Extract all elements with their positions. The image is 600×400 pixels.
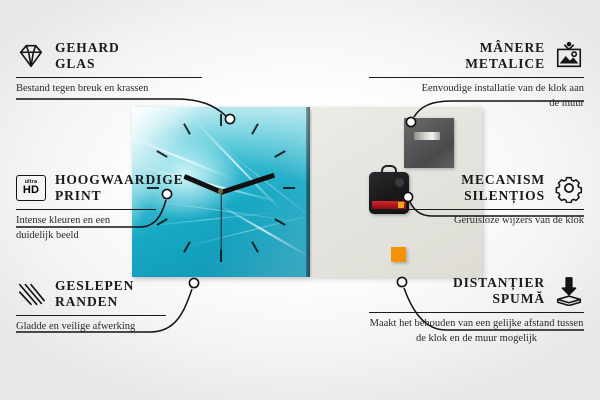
connector-node-tempered-glass <box>225 114 234 123</box>
feature-subtitle: Maakt het behouden van een gelijke afsta… <box>369 317 584 345</box>
feature-title-line: DISTANȚIER <box>453 275 545 291</box>
feature-foam-spacer: DISTANȚIER SPUMĂ Maakt het behouden van … <box>369 275 584 346</box>
feature-rule <box>16 315 166 316</box>
arrow-down-stack-icon <box>554 276 584 306</box>
feature-subtitle: Gladde en veilige afwerking <box>16 320 206 334</box>
feature-tempered-glass: GEHARD GLAS Bestand tegen breuk en krass… <box>16 40 231 97</box>
feature-title-line: GEHARD <box>55 40 120 56</box>
feature-rule <box>369 312 584 313</box>
gear-icon <box>554 173 584 203</box>
feature-title-line: RANDEN <box>55 294 134 310</box>
ultra-hd-icon-large-text: HD <box>23 185 39 196</box>
feature-subtitle: Intense kleuren en een duidelijk beeld <box>16 214 146 242</box>
feature-silent-mechanism: MECANISM SILENȚIOS Geruisloze wijzers va… <box>369 172 584 229</box>
feature-title-line: SILENȚIOS <box>461 188 545 204</box>
feature-subtitle: Geruisloze wijzers van de klok <box>434 214 584 228</box>
picture-frame-hanger-icon <box>554 41 584 71</box>
feature-high-quality-print: ultra HD HOOGWAARDIGE PRINT Intense kleu… <box>16 172 231 243</box>
feature-title-line: GESLEPEN <box>55 278 134 294</box>
feature-rule <box>16 209 156 210</box>
feature-title-line: PRINT <box>55 188 184 204</box>
diamond-icon <box>16 41 46 71</box>
feature-title-line: MÂNERE <box>465 40 545 56</box>
feature-subtitle: Bestand tegen breuk en krassen <box>16 82 166 96</box>
feature-title-line: GLAS <box>55 56 120 72</box>
feature-rule <box>369 77 584 78</box>
diagonal-lines-icon <box>16 279 46 309</box>
feature-title-line: HOOGWAARDIGE <box>55 172 184 188</box>
connector-tempered-glass <box>16 99 226 116</box>
feature-title-line: MECANISM <box>461 172 545 188</box>
feature-title-line: SPUMĂ <box>453 291 545 307</box>
connector-node-handles <box>406 117 415 126</box>
feature-rule <box>369 209 584 210</box>
feature-subtitle: Eenvoudige installatie van de klok aan d… <box>419 82 584 110</box>
feature-rule <box>16 77 202 78</box>
feature-metal-handles: MÂNERE METALICE Eenvoudige installatie v… <box>369 40 584 111</box>
feature-title-line: METALICE <box>465 56 545 72</box>
ultra-hd-icon: ultra HD <box>16 175 46 201</box>
feature-polished-edges: GESLEPEN RANDEN Gladde en veilige afwerk… <box>16 278 231 335</box>
infographic-canvas: GEHARD GLAS Bestand tegen breuk en krass… <box>0 0 600 400</box>
